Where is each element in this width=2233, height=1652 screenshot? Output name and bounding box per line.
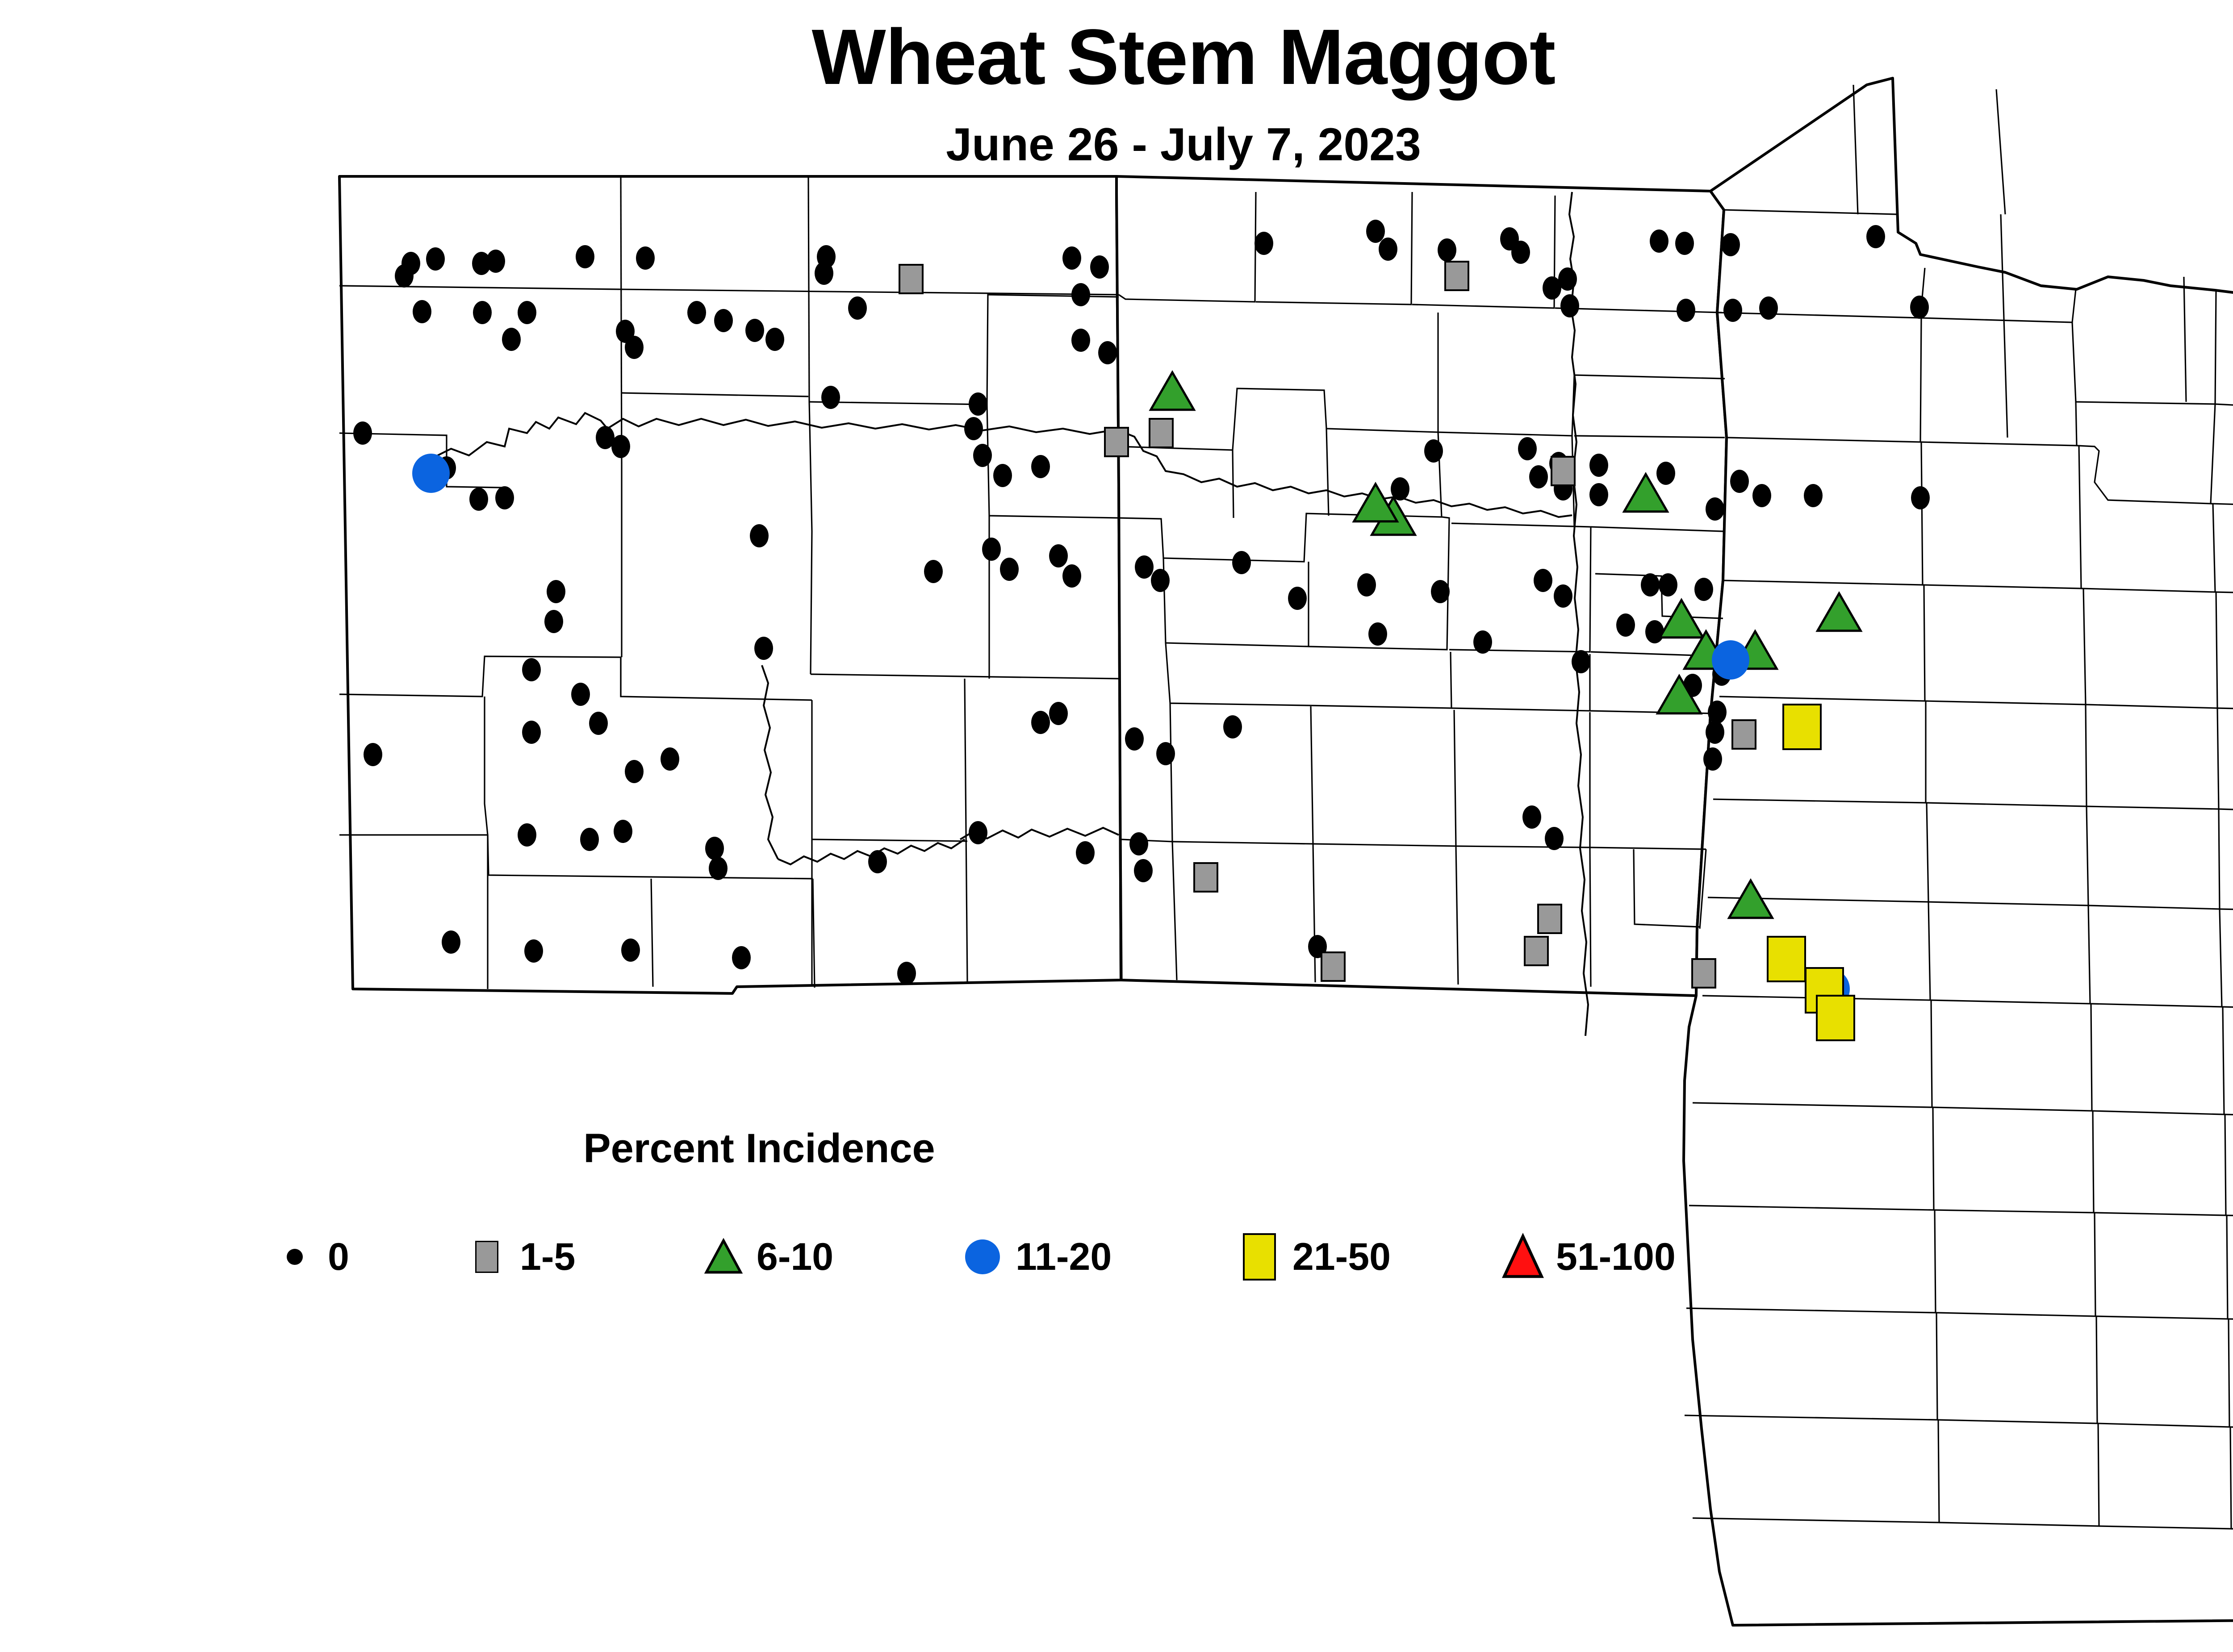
map-marker[interactable] (1723, 299, 1742, 322)
map-marker[interactable] (1062, 564, 1081, 588)
map-marker[interactable] (1910, 296, 1929, 319)
map-marker[interactable] (547, 580, 565, 603)
legend-label-4: 21-50 (1292, 1235, 1391, 1279)
map-marker[interactable] (1134, 859, 1153, 882)
map-marker[interactable] (1232, 551, 1251, 574)
map-marker[interactable] (1730, 470, 1749, 493)
blue-circle-icon (956, 1230, 1009, 1284)
legend-title: Percent Incidence (268, 1125, 1250, 1172)
map-marker[interactable] (1650, 229, 1668, 253)
map-marker[interactable] (426, 247, 445, 271)
map-marker[interactable] (1534, 569, 1552, 592)
map-marker[interactable] (1098, 341, 1117, 364)
map-marker[interactable] (353, 421, 372, 445)
map-marker[interactable] (522, 721, 541, 744)
map-marker[interactable] (625, 760, 644, 783)
map-marker[interactable] (442, 930, 460, 954)
black-dot-icon (268, 1230, 322, 1284)
map-marker[interactable] (969, 392, 987, 416)
map-marker[interactable] (1424, 439, 1443, 463)
map-marker[interactable] (1156, 742, 1175, 765)
map-marker[interactable] (1866, 225, 1885, 248)
map-marker[interactable] (868, 850, 887, 873)
map-marker[interactable] (714, 309, 733, 332)
map-marker[interactable] (469, 488, 488, 511)
map-marker[interactable] (899, 265, 923, 293)
legend-items: 0 1-5 6-10 11-20 (268, 1219, 1742, 1295)
map-marker[interactable] (1818, 593, 1861, 631)
map-marker[interactable] (969, 821, 987, 844)
legend-label-0: 0 (328, 1235, 349, 1279)
map-marker[interactable] (1560, 294, 1579, 317)
map-marker[interactable] (1759, 296, 1778, 320)
map-marker[interactable] (1645, 620, 1664, 643)
map-marker[interactable] (1076, 841, 1095, 864)
map-marker[interactable] (1804, 484, 1823, 507)
map-marker[interactable] (1911, 486, 1930, 509)
map-marker[interactable] (1518, 437, 1537, 460)
map-marker[interactable] (1708, 701, 1727, 724)
map-marker[interactable] (924, 560, 943, 583)
gray-square-icon (460, 1230, 514, 1284)
map-marker[interactable] (1706, 721, 1724, 744)
map-page: Wheat Stem Maggot June 26 - July 7, 2023 (0, 0, 2233, 1652)
map-marker[interactable] (1150, 419, 1173, 447)
map-marker[interactable] (1223, 715, 1242, 738)
map-marker[interactable] (1706, 497, 1724, 521)
map-marker[interactable] (1694, 578, 1713, 601)
map-marker[interactable] (709, 857, 728, 880)
red-triangle-icon (1496, 1230, 1550, 1284)
map-marker[interactable] (973, 444, 992, 467)
map-marker[interactable] (1151, 372, 1194, 410)
map-marker[interactable] (486, 250, 505, 273)
map-marker[interactable] (1572, 650, 1590, 673)
map-marker[interactable] (897, 962, 916, 985)
map-marker[interactable] (1366, 220, 1385, 243)
map-marker[interactable] (1752, 484, 1771, 507)
legend: Percent Incidence 0 1-5 (268, 1125, 1742, 1295)
map-marker[interactable] (636, 246, 655, 270)
legend-item-2[interactable]: 6-10 (697, 1219, 833, 1295)
map-marker[interactable] (413, 300, 431, 323)
map-marker[interactable] (1659, 573, 1677, 597)
yellow-square-icon (1233, 1230, 1286, 1284)
map-marker[interactable] (1529, 465, 1548, 488)
map-marker[interactable] (412, 454, 450, 493)
map-marker[interactable] (1677, 299, 1695, 322)
map-marker[interactable] (1379, 238, 1397, 261)
map-marker[interactable] (1071, 329, 1090, 352)
map-marker[interactable] (765, 328, 784, 351)
map-marker[interactable] (1589, 454, 1608, 477)
map-marker[interactable] (1703, 747, 1722, 771)
map-marker[interactable] (1545, 827, 1564, 850)
map-marker[interactable] (495, 486, 514, 509)
map-marker[interactable] (1675, 232, 1694, 255)
legend-item-5[interactable]: 51-100 (1496, 1219, 1676, 1295)
map-marker[interactable] (661, 747, 679, 771)
map-marker[interactable] (524, 939, 543, 963)
map-marker[interactable] (473, 301, 492, 324)
map-marker[interactable] (1558, 267, 1577, 291)
map-marker[interactable] (964, 417, 983, 440)
map-marker[interactable] (1554, 584, 1572, 608)
map-marker[interactable] (982, 538, 1001, 561)
map-marker[interactable] (589, 712, 608, 735)
map-marker[interactable] (576, 245, 594, 268)
map-marker[interactable] (1368, 622, 1387, 646)
map-marker[interactable] (705, 837, 724, 860)
map-marker[interactable] (544, 610, 563, 633)
map-marker[interactable] (1660, 600, 1703, 638)
map-marker[interactable] (848, 296, 867, 320)
map-marker[interactable] (1049, 702, 1068, 725)
map-marker[interactable] (1721, 233, 1740, 256)
map-marker[interactable] (821, 386, 840, 409)
map-marker[interactable] (732, 946, 751, 969)
map-marker[interactable] (580, 828, 599, 851)
legend-label-5: 51-100 (1556, 1235, 1676, 1279)
marker-layer[interactable] (0, 0, 2233, 1652)
legend-item-4[interactable]: 21-50 (1233, 1219, 1391, 1295)
map-marker[interactable] (1090, 255, 1109, 279)
map-marker[interactable] (1357, 573, 1376, 597)
map-marker[interactable] (1062, 246, 1081, 270)
map-marker[interactable] (750, 524, 769, 547)
map-marker[interactable] (1522, 805, 1541, 829)
map-marker[interactable] (621, 939, 640, 962)
map-marker[interactable] (522, 658, 541, 681)
map-marker[interactable] (1641, 573, 1660, 597)
map-marker[interactable] (1431, 580, 1450, 603)
map-marker[interactable] (1288, 587, 1307, 610)
map-marker[interactable] (364, 743, 382, 766)
map-marker[interactable] (1768, 937, 1805, 981)
map-marker[interactable] (518, 301, 536, 324)
map-marker[interactable] (1729, 880, 1773, 918)
map-marker[interactable] (1445, 262, 1468, 290)
map-marker[interactable] (1732, 720, 1756, 749)
map-marker[interactable] (815, 262, 833, 285)
map-marker[interactable] (1656, 462, 1675, 485)
map-marker[interactable] (687, 301, 706, 324)
legend-label-2: 6-10 (757, 1235, 833, 1279)
map-marker[interactable] (1473, 630, 1492, 654)
map-marker[interactable] (1105, 428, 1128, 456)
map-marker[interactable] (1817, 996, 1854, 1040)
map-marker[interactable] (1712, 640, 1749, 680)
map-marker[interactable] (395, 264, 414, 288)
map-marker[interactable] (1616, 613, 1635, 637)
map-marker[interactable] (502, 328, 521, 351)
map-marker[interactable] (993, 464, 1012, 487)
map-marker[interactable] (1151, 569, 1170, 592)
map-marker[interactable] (1551, 457, 1575, 485)
map-marker[interactable] (1538, 905, 1561, 933)
map-marker[interactable] (745, 319, 764, 342)
map-marker[interactable] (754, 637, 773, 660)
map-marker[interactable] (625, 336, 644, 359)
map-marker[interactable] (1783, 705, 1821, 749)
map-marker[interactable] (1194, 863, 1217, 892)
map-marker[interactable] (1125, 727, 1144, 751)
map-marker[interactable] (571, 683, 590, 706)
legend-label-3: 11-20 (1016, 1235, 1112, 1279)
map-marker[interactable] (1000, 558, 1019, 581)
legend-item-1[interactable]: 1-5 (460, 1219, 575, 1295)
legend-item-3[interactable]: 11-20 (956, 1219, 1112, 1295)
map-marker[interactable] (1129, 832, 1148, 855)
map-marker[interactable] (1135, 555, 1154, 579)
map-marker[interactable] (1031, 711, 1050, 734)
green-triangle-icon (697, 1230, 750, 1284)
map-marker[interactable] (1071, 283, 1090, 306)
map-marker[interactable] (1321, 952, 1345, 981)
map-marker[interactable] (1031, 455, 1050, 478)
map-marker[interactable] (1049, 544, 1068, 567)
map-marker[interactable] (1692, 959, 1715, 988)
map-marker[interactable] (611, 435, 630, 458)
map-marker[interactable] (1511, 241, 1530, 264)
map-marker[interactable] (1254, 232, 1273, 255)
legend-label-1: 1-5 (520, 1235, 575, 1279)
map-marker[interactable] (1525, 937, 1548, 965)
map-marker[interactable] (1589, 483, 1608, 506)
map-marker[interactable] (1438, 238, 1456, 262)
legend-item-0[interactable]: 0 (268, 1219, 349, 1295)
map-marker[interactable] (518, 823, 536, 847)
map-marker[interactable] (614, 820, 632, 843)
